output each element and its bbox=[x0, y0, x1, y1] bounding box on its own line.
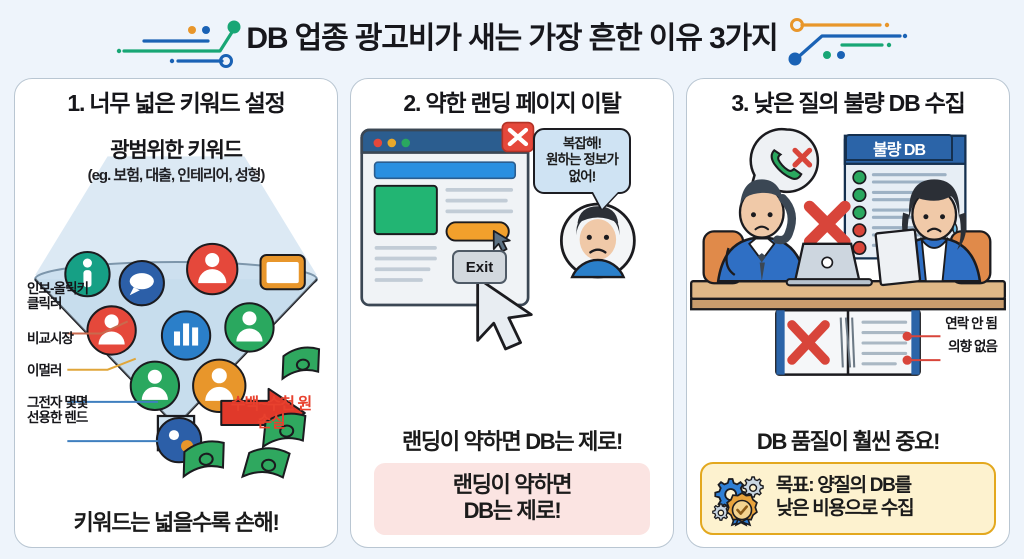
panel-3-title: 3. 낮은 질의 불량 DB 수집 bbox=[731, 92, 964, 115]
note-no-intent: 의향 없음 bbox=[948, 335, 997, 355]
funnel-label-1: 인보-올릭키 클릭러 bbox=[27, 281, 88, 311]
funnel-label-3-line1: 이멀러 bbox=[27, 363, 62, 378]
bubble-line-1: 복잡해! bbox=[539, 136, 625, 152]
panel-2-conclusion: 랜딩이 약하면 DB는 제로! bbox=[402, 429, 622, 454]
panel-1-illustration: 광범위한 키워드 (eg. 보험, 대출, 인테리어, 성형) 인보-올릭키 클… bbox=[15, 115, 337, 510]
highlight-line-1: 랜딩이 약하면 bbox=[394, 472, 631, 498]
loss-amount-text: 수백~수천 원 손실 bbox=[219, 396, 323, 433]
goal-line-2: 낮은 비용으로 수집 bbox=[776, 498, 913, 521]
funnel-label-4-line2: 선용한 렌드 bbox=[27, 410, 87, 425]
funnel-label-2-line1: 비교시장 bbox=[27, 331, 73, 346]
exit-button[interactable]: Exit bbox=[452, 250, 507, 284]
bad-db-panel-title: 불량 DB bbox=[845, 134, 953, 161]
panel-3-goal-box: 목표: 양질의 DB를 낮은 비용으로 수집 bbox=[700, 462, 996, 535]
funnel-heading-group: 광범위한 키워드 (eg. 보험, 대출, 인테리어, 성형) bbox=[15, 139, 337, 185]
highlight-line-2: DB는 제로! bbox=[394, 498, 631, 524]
panel-2-footer: 랜딩이 약하면 DB는 제로! 랜딩이 약하면 DB는 제로! bbox=[351, 429, 673, 547]
funnel-label-4-line1: 그전자 몇몇 bbox=[27, 395, 87, 410]
loss-amount-line2: 손실 bbox=[219, 414, 323, 432]
panel-3-conclusion: DB 품질이 훨씬 중요! bbox=[757, 429, 939, 454]
panel-3-illustration: 불량 DB 연락 안 됨 의향 없음 bbox=[687, 115, 1009, 429]
panel-2-illustration: 복잡해! 원하는 정보가 없어! Exit bbox=[351, 115, 673, 429]
page-title: DB 업종 광고비가 새는 가장 흔한 이유 3가지 bbox=[246, 24, 777, 54]
bubble-line-2: 원하는 정보가 bbox=[539, 152, 625, 168]
panel-broad-keywords[interactable]: 1. 너무 넓은 키워드 설정 bbox=[14, 78, 338, 548]
circuit-lines-icon-right bbox=[788, 13, 908, 65]
panel-2-title: 2. 약한 랜딩 페이지 이탈 bbox=[403, 92, 620, 115]
panels-row: 1. 너무 넓은 키워드 설정 bbox=[0, 78, 1024, 548]
panel-1-footer: 키워드는 넓을수록 손해! bbox=[15, 510, 337, 547]
funnel-label-3: 이멀러 bbox=[27, 363, 62, 378]
funnel-label-2: 비교시장 bbox=[27, 331, 73, 346]
panel-2-highlight-box: 랜딩이 약하면 DB는 제로! bbox=[374, 463, 651, 535]
funnel-examples: (eg. 보험, 대출, 인테리어, 성형) bbox=[15, 164, 337, 185]
red-x-icon bbox=[810, 206, 845, 241]
panel-weak-landing[interactable]: 2. 약한 랜딩 페이지 이탈 bbox=[350, 78, 674, 548]
panel-1-title: 1. 너무 넓은 키워드 설정 bbox=[67, 92, 284, 115]
funnel-label-1-line2: 클릭러 bbox=[27, 296, 88, 311]
funnel-heading: 광범위한 키워드 bbox=[15, 139, 337, 162]
note-no-contact: 연락 안 됨 bbox=[945, 312, 997, 332]
gears-award-icon bbox=[712, 471, 770, 525]
page-header: DB 업종 광고비가 새는 가장 흔한 이유 3가지 bbox=[0, 0, 1024, 78]
panel-3-footer: DB 품질이 훨씬 중요! bbox=[687, 429, 1009, 547]
bubble-line-3: 없어! bbox=[539, 169, 625, 185]
bad-db-graphic bbox=[687, 115, 1009, 429]
funnel-label-4: 그전자 몇몇 선용한 렌드 bbox=[27, 395, 87, 425]
circuit-lines-icon-left bbox=[116, 13, 236, 65]
panel-bad-db[interactable]: 3. 낮은 질의 불량 DB 수집 bbox=[686, 78, 1010, 548]
goal-line-1: 목표: 양질의 DB를 bbox=[776, 475, 913, 498]
notebook-icon bbox=[776, 310, 940, 374]
complaint-speech-bubble: 복잡해! 원하는 정보가 없어! bbox=[533, 128, 631, 194]
loss-amount-line1: 수백~수천 원 bbox=[219, 396, 323, 414]
panel-1-conclusion: 키워드는 넓을수록 손해! bbox=[73, 510, 278, 535]
funnel-label-1-line1: 인보-올릭키 bbox=[27, 281, 88, 296]
goal-box-text: 목표: 양질의 DB를 낮은 비용으로 수집 bbox=[776, 475, 913, 521]
